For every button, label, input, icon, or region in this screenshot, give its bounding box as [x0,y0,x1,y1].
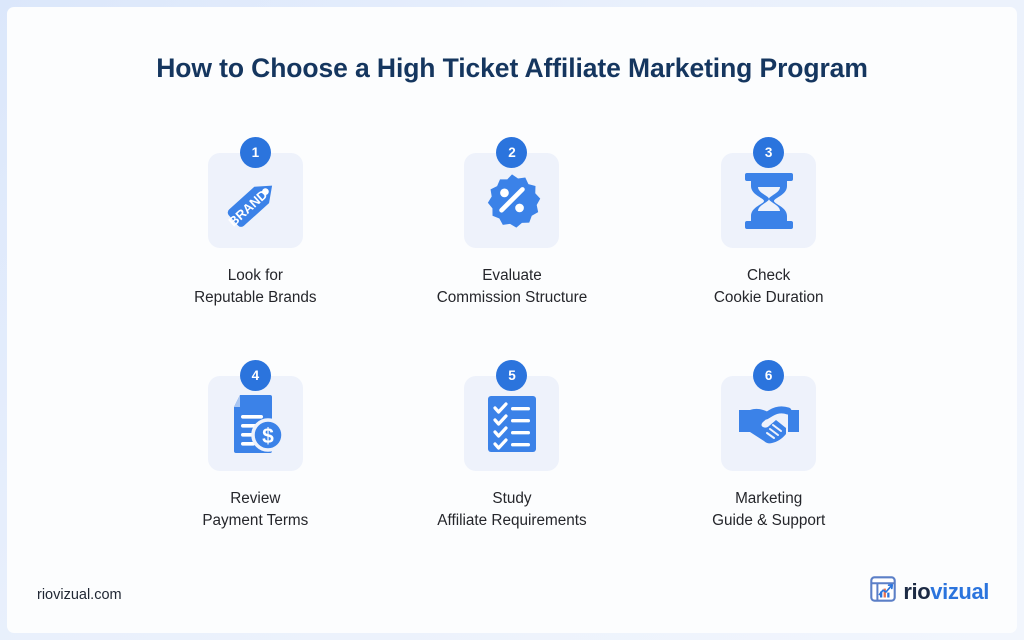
step-caption: Study Affiliate Requirements [437,488,586,531]
step-card-4[interactable]: 4 $ Review Payment Terms [127,360,384,531]
invoice-dollar-icon: $ [226,393,284,455]
riovizual-logo[interactable]: riovizual [870,576,989,607]
step-card-6[interactable]: 6 Marketing Guide [640,360,897,531]
step-caption: Look for Reputable Brands [194,265,316,308]
step-caption: Check Cookie Duration [714,265,824,308]
handshake-icon [737,400,801,448]
step-number-badge: 3 [753,137,784,168]
step-caption: Marketing Guide & Support [712,488,825,531]
step-card-5[interactable]: 5 [384,360,641,531]
svg-text:$: $ [262,425,274,448]
step-caption: Evaluate Commission Structure [437,265,587,308]
step-card-2[interactable]: 2 Evaluate Commission Structure [384,137,641,308]
checklist-icon [486,394,538,454]
hourglass-icon [741,171,797,231]
logo-text-rio: rio [903,579,930,604]
riovizual-chart-logo-icon [870,576,896,607]
page-title: How to Choose a High Ticket Affiliate Ma… [7,53,1017,84]
step-card-1[interactable]: 1 BRAND Look for Reputable Brands [127,137,384,308]
brand-tag-icon: BRAND [224,170,286,232]
steps-grid: 1 BRAND Look for Reputable Brands 2 [127,137,897,532]
site-url[interactable]: riovizual.com [37,587,122,603]
step-card-3[interactable]: 3 Check Cookie Duration [640,137,897,308]
step-caption: Review Payment Terms [202,488,308,531]
infographic-canvas: How to Choose a High Ticket Affiliate Ma… [7,7,1017,633]
step-number-badge: 1 [240,137,271,168]
logo-wordmark: riovizual [903,579,989,605]
percent-badge-icon [483,172,541,230]
logo-text-vizual: vizual [930,579,989,604]
